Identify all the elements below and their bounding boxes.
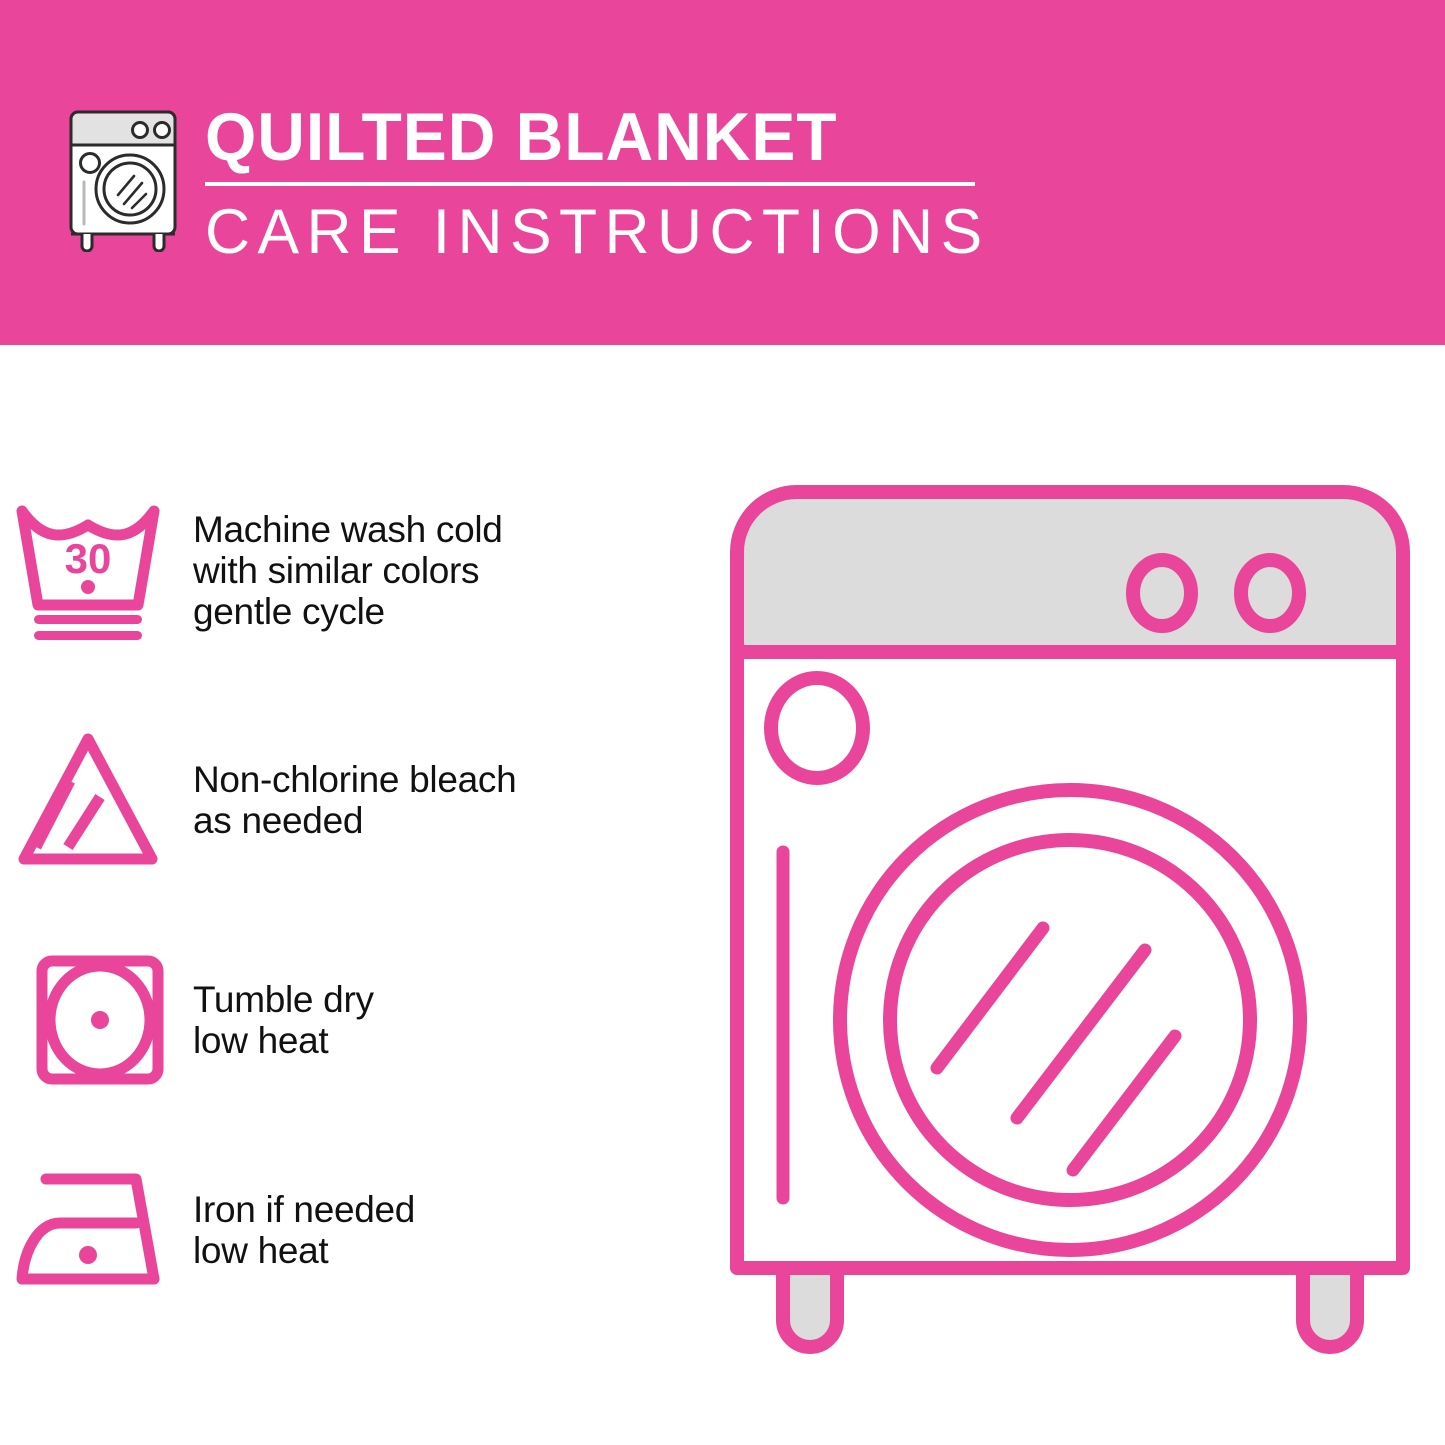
dryer-heat-dot (91, 1011, 109, 1029)
washing-machine-icon (62, 104, 184, 252)
tumble-dry-icon (0, 945, 175, 1095)
door-shine-line-1 (937, 928, 1043, 1068)
care-row-bleach: Non-chlorine bleach as needed (0, 725, 700, 875)
title-divider (205, 182, 975, 186)
header-banner: QUILTED BLANKET CARE INSTRUCTIONS (0, 0, 1445, 345)
gentle-bar-1 (34, 615, 142, 624)
care-label-tumble-dry: Tumble dry low heat (175, 979, 374, 1061)
care-line: Machine wash cold (193, 509, 503, 550)
care-line: low heat (193, 1020, 374, 1061)
care-label-machine-wash: Machine wash cold with similar colors ge… (175, 509, 503, 632)
care-label-bleach: Non-chlorine bleach as needed (175, 759, 516, 841)
care-symbol-list: 30 Machine wash cold with similar colors… (0, 345, 700, 1445)
care-row-iron: Iron if needed low heat (0, 1155, 700, 1305)
gentle-bar-2 (34, 631, 142, 640)
care-line: low heat (193, 1230, 415, 1271)
iron-icon (0, 1155, 175, 1305)
wash-dot (81, 580, 95, 594)
wash-temperature-label: 30 (64, 535, 111, 582)
care-instructions-page: QUILTED BLANKET CARE INSTRUCTIONS 30 (0, 0, 1445, 1445)
care-row-machine-wash: 30 Machine wash cold with similar colors… (0, 495, 700, 645)
header-text-block: QUILTED BLANKET CARE INSTRUCTIONS (205, 100, 995, 267)
leg-right (1303, 1268, 1357, 1347)
care-line: as needed (193, 800, 516, 841)
care-line: Tumble dry (193, 979, 374, 1020)
care-line: with similar colors (193, 550, 503, 591)
indicator-circle (771, 678, 863, 778)
door-shine-line-3 (1073, 1036, 1175, 1170)
iron-heat-dot (79, 1246, 97, 1264)
bleach-triangle-icon (0, 725, 175, 875)
washing-machine-illustration (725, 480, 1415, 1370)
care-label-iron: Iron if needed low heat (175, 1189, 415, 1271)
care-row-tumble-dry: Tumble dry low heat (0, 945, 700, 1095)
care-line: Non-chlorine bleach (193, 759, 516, 800)
care-line: Iron if needed (193, 1189, 415, 1230)
door-inner-ring (890, 840, 1250, 1200)
wash-tub-icon: 30 (0, 495, 175, 645)
control-panel-fill (737, 492, 1403, 652)
door-outer-ring (840, 790, 1300, 1250)
page-title: QUILTED BLANKET (205, 100, 971, 174)
leg-left (783, 1268, 837, 1347)
page-subtitle: CARE INSTRUCTIONS (205, 197, 987, 267)
care-line: gentle cycle (193, 591, 503, 632)
